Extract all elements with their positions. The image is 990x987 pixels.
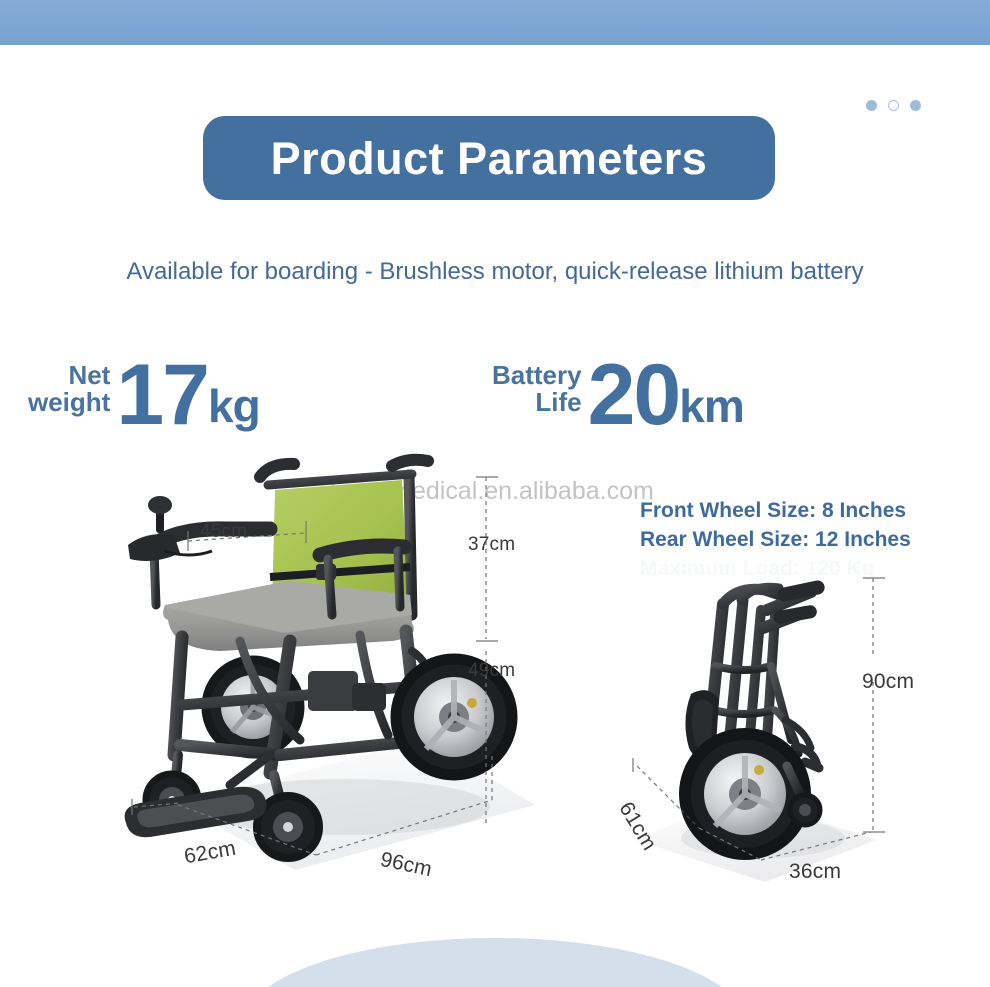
dim-label-folded-width: 36cm (789, 860, 841, 884)
stat-net-weight: Net weight 17 kg (28, 360, 260, 431)
battery-box (308, 671, 386, 711)
rear-wheel-size-text: Rear Wheel Size: 12 Inches (640, 525, 911, 554)
folded-rear-wheel (685, 734, 805, 854)
dim-label-seat-height: 49cm (468, 660, 515, 682)
folded-wheelchair-diagram (615, 570, 935, 890)
section-title-box: Product Parameters (203, 116, 775, 200)
stat-battery-life-label: Battery Life (492, 362, 582, 431)
stat-net-weight-value: 17 (110, 360, 208, 431)
carousel-pagination[interactable] (866, 96, 936, 114)
stat-net-weight-label: Net weight (28, 362, 110, 431)
section-subtitle: Available for boarding - Brushless motor… (0, 258, 990, 287)
page-title: Product Parameters (271, 136, 708, 181)
carousel-dot-3[interactable] (910, 100, 921, 111)
dim-label-folded-height: 90cm (862, 670, 914, 694)
bottom-arc-decoration (245, 938, 745, 987)
stat-battery-life-unit: km (679, 383, 743, 431)
stat-battery-life: Battery Life 20 km (492, 360, 744, 431)
carousel-dot-1[interactable] (866, 100, 877, 111)
stat-net-weight-unit: kg (208, 383, 260, 431)
dim-label-seat-width: 45cm (200, 521, 247, 543)
front-wheel-size-text: Front Wheel Size: 8 Inches (640, 496, 911, 525)
folded-wheelchair-image (615, 570, 935, 890)
product-detail-page: Product Parameters Available for boardin… (0, 0, 990, 987)
top-banner (0, 0, 990, 45)
dim-label-back-height: 37cm (468, 534, 515, 556)
carousel-dot-2[interactable] (888, 100, 899, 111)
stat-battery-life-value: 20 (582, 360, 680, 431)
